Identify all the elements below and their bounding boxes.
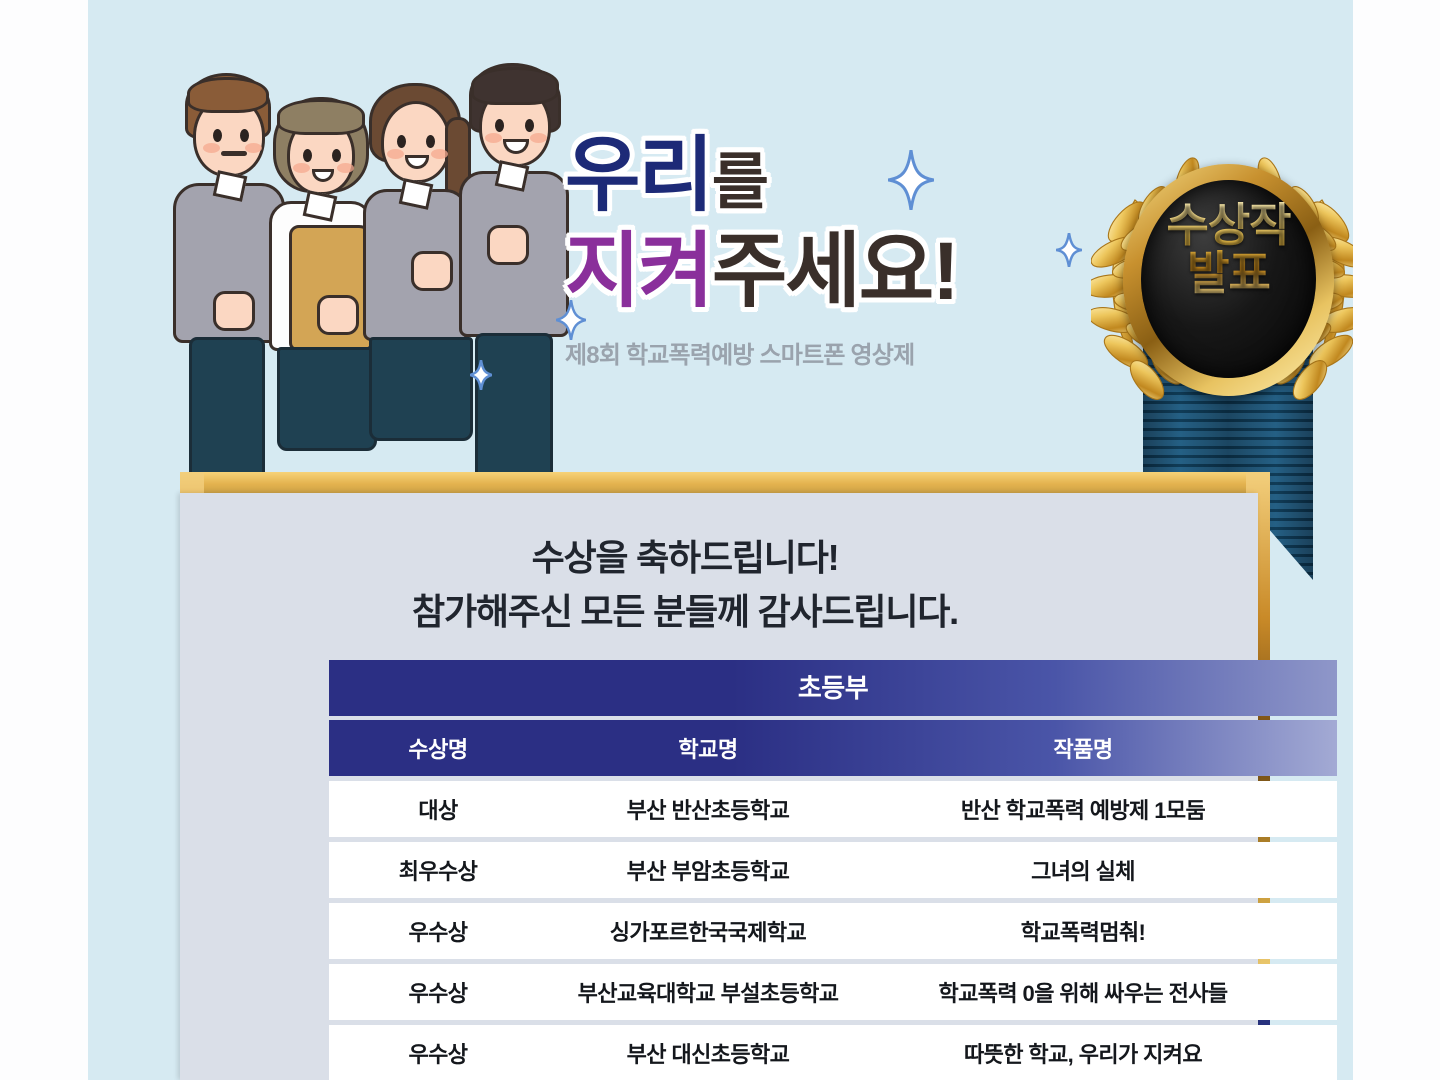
blush (485, 133, 502, 143)
award-table: 초등부 수상명 학교명 작품명 대상 부산 반산초등학교 반산 학교폭력 예방제… (329, 660, 1337, 1080)
table-category-header: 초등부 (329, 660, 1337, 716)
eye (495, 119, 504, 132)
cell-work: 반산 학교폭력 예방제 1모둠 (869, 793, 1337, 825)
sparkle-icon (556, 300, 586, 340)
blush (293, 163, 310, 173)
greeting-line-2: 참가해주신 모든 분들께 감사드립니다. (180, 585, 1190, 639)
cell-school: 부산교육대학교 부설초등학교 (547, 976, 869, 1008)
blush (530, 133, 547, 143)
column-header-work: 작품명 (869, 732, 1337, 764)
pointing-fist-icon (411, 251, 453, 291)
cell-school: 싱가포르한국국제학교 (547, 915, 869, 947)
title-line-2: 지켜주세요! (565, 231, 995, 313)
frame-top-bar (180, 472, 1270, 494)
eye (240, 129, 249, 142)
eye (332, 149, 341, 162)
cell-work: 학교폭력멈춰! (869, 915, 1337, 947)
medal-text: 수상작 발표 (1146, 202, 1311, 298)
eye (397, 135, 406, 148)
uniform-skirt (369, 337, 473, 441)
greeting-message: 수상을 축하드립니다! 참가해주신 모든 분들께 감사드립니다. (180, 531, 1190, 639)
pointing-fist-icon (317, 295, 359, 335)
pointing-fist-icon (487, 225, 529, 265)
cell-award: 최우수상 (329, 854, 547, 886)
eye (525, 119, 534, 132)
medal-text-line-1: 수상작 (1146, 202, 1311, 250)
hair-fringe-icon (187, 77, 269, 113)
head-shape (381, 101, 451, 183)
trousers (189, 337, 265, 477)
award-medal: 수상작 발표 (1091, 140, 1353, 420)
blush (387, 149, 404, 159)
blush (337, 163, 354, 173)
medal-text-line-2: 발표 (1146, 250, 1311, 298)
column-header-award: 수상명 (329, 732, 547, 764)
eye (303, 149, 312, 162)
eye (213, 129, 222, 142)
students-illustration (163, 55, 583, 480)
event-subtitle: 제8회 학교폭력예방 스마트폰 영상제 (565, 335, 995, 370)
sparkle-icon (1056, 233, 1082, 267)
table-column-header-row: 수상명 학교명 작품명 (329, 720, 1337, 776)
blush (245, 143, 262, 153)
cell-school: 부산 반산초등학교 (547, 793, 869, 825)
trousers (475, 333, 553, 477)
content-panel: 수상을 축하드립니다! 참가해주신 모든 분들께 감사드립니다. 초등부 수상명… (180, 493, 1258, 1080)
pointing-fist-icon (213, 291, 255, 331)
table-row: 우수상 부산 대신초등학교 따뜻한 학교, 우리가 지켜요 (329, 1025, 1337, 1080)
cell-award: 대상 (329, 793, 547, 825)
table-row: 최우수상 부산 부암초등학교 그녀의 실체 (329, 842, 1337, 898)
cell-work: 그녀의 실체 (869, 854, 1337, 886)
sparkle-icon (470, 360, 492, 390)
column-header-school: 학교명 (547, 732, 869, 764)
blush (431, 149, 448, 159)
table-row: 대상 부산 반산초등학교 반산 학교폭력 예방제 1모둠 (329, 781, 1337, 837)
table-row: 우수상 싱가포르한국국제학교 학교폭력멈춰! (329, 903, 1337, 959)
greeting-line-1: 수상을 축하드립니다! (180, 531, 1190, 585)
poster-canvas: 우리를 지켜주세요! 제8회 학교폭력예방 스마트폰 영상제 (88, 0, 1353, 1080)
table-row: 우수상 부산교육대학교 부설초등학교 학교폭력 0을 위해 싸우는 전사들 (329, 964, 1337, 1020)
cell-work: 따뜻한 학교, 우리가 지켜요 (869, 1037, 1337, 1069)
title-line-2-part1: 지켜 (565, 226, 712, 317)
sparkle-icon (888, 150, 934, 210)
eye (426, 135, 435, 148)
cell-award: 우수상 (329, 915, 547, 947)
cell-school: 부산 부암초등학교 (547, 854, 869, 886)
cell-school: 부산 대신초등학교 (547, 1037, 869, 1069)
cell-work: 학교폭력 0을 위해 싸우는 전사들 (869, 976, 1337, 1008)
cell-award: 우수상 (329, 976, 547, 1008)
title-line-1-part2: 를 (712, 148, 767, 217)
uniform-skirt (277, 347, 377, 451)
hair-fringe-icon (277, 99, 365, 135)
blush (203, 143, 220, 153)
cell-award: 우수상 (329, 1037, 547, 1069)
hair-fringe-icon (471, 67, 559, 105)
title-line-1-part1: 우리 (565, 130, 712, 221)
title-line-2-part2: 주세요! (712, 226, 958, 317)
mouth (221, 151, 247, 156)
